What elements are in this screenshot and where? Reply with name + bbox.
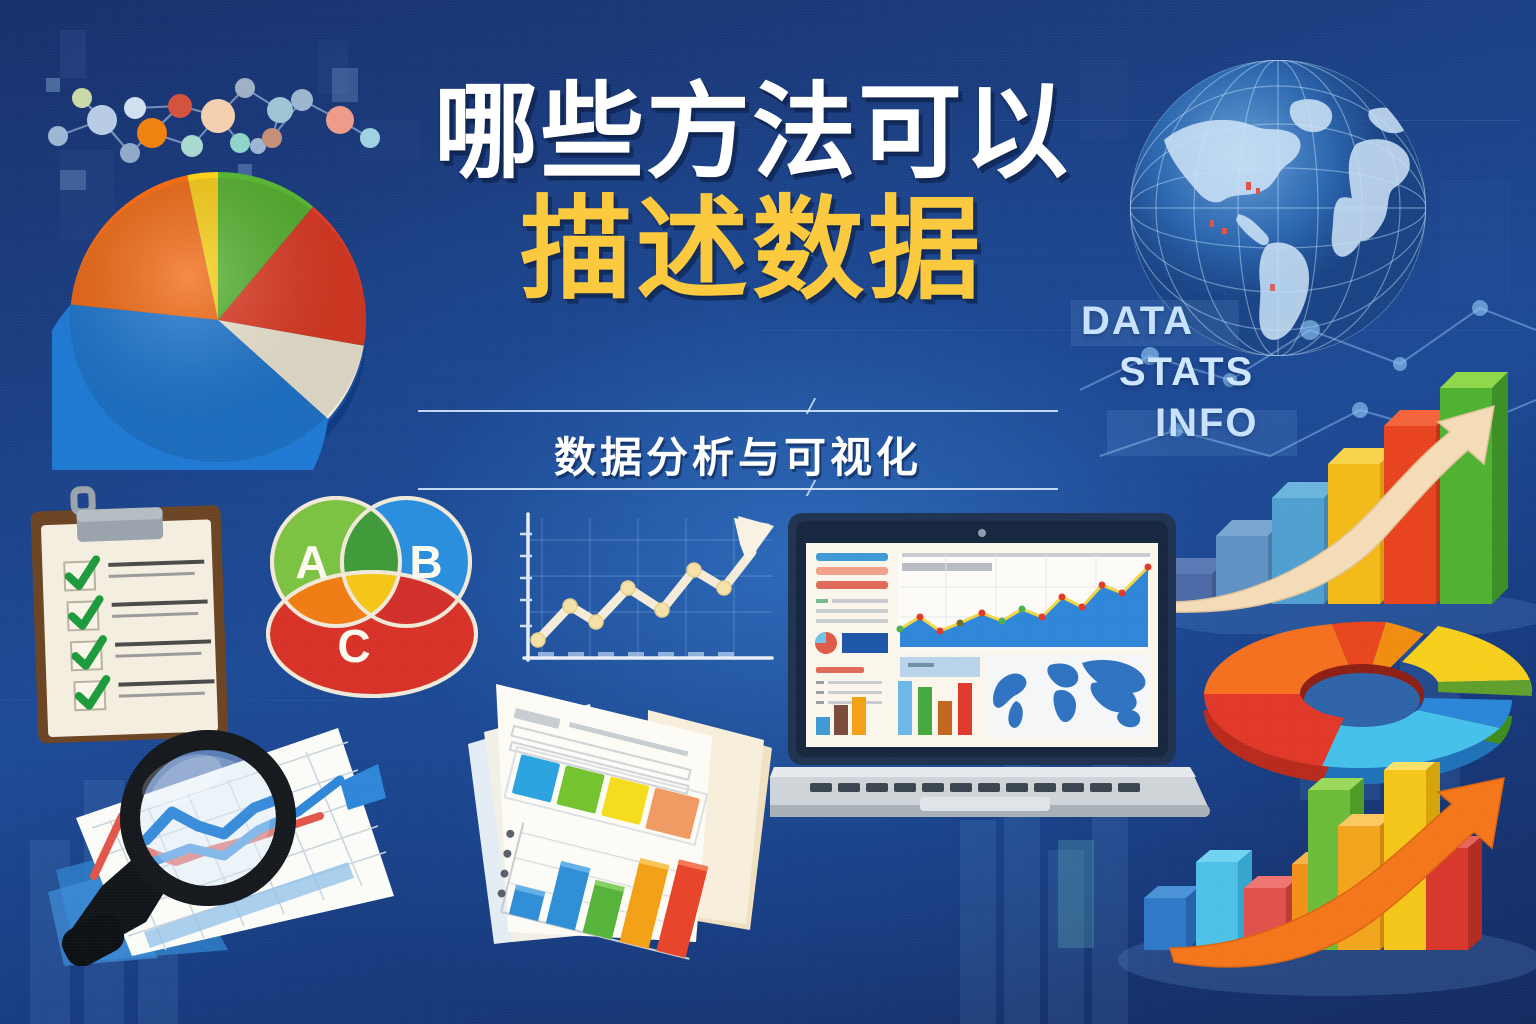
title-line-1: 哪些方法可以 xyxy=(402,80,1102,186)
subtitle-rule-top xyxy=(418,410,1058,412)
venn-label-a: A xyxy=(295,536,328,588)
bar-chart-3d-bottom xyxy=(1100,762,1536,1024)
bg-bar-silhouette-green xyxy=(1050,830,1110,960)
magnifier-over-chart xyxy=(48,700,408,966)
subtitle-text: 数据分析与可视化 xyxy=(418,424,1058,485)
venn-label-c: C xyxy=(337,620,370,672)
poster-canvas: 哪些方法可以 描述数据 数据分析与可视化 DATA STATS INFO xyxy=(0,0,1536,1024)
venn-label-b: B xyxy=(409,536,442,588)
subtitle-rule-bottom xyxy=(418,488,1058,490)
poster-title: 哪些方法可以 描述数据 xyxy=(402,80,1102,309)
report-documents xyxy=(450,652,800,962)
pie-chart-3d xyxy=(52,158,382,470)
title-line-2: 描述数据 xyxy=(402,192,1102,308)
keyword-plate xyxy=(1071,300,1239,346)
subtitle-block: 数据分析与可视化 xyxy=(418,404,1058,496)
